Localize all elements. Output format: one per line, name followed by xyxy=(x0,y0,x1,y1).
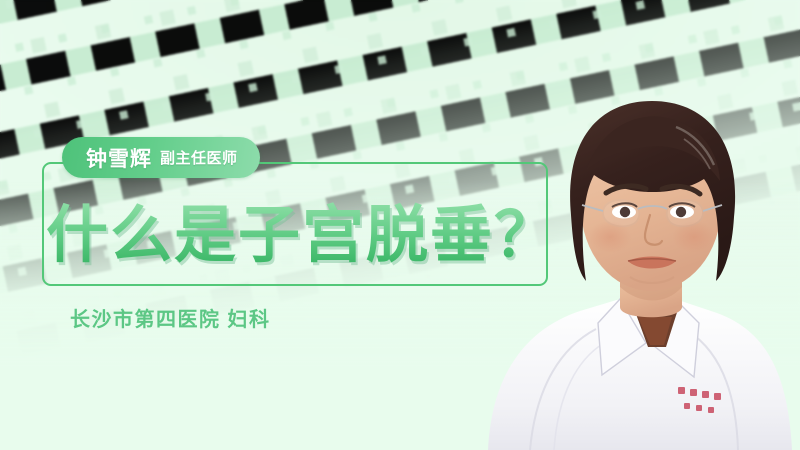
doctor-name-text: 钟雪辉 xyxy=(86,143,152,173)
headline-text: 什么是子宫脱垂？ xyxy=(46,184,558,274)
doctor-name-badge: 钟雪辉 副主任医师 xyxy=(62,137,260,178)
hospital-department-caption: 长沙市第四医院 妇科 xyxy=(70,303,271,332)
video-thumbnail-card: 钟雪辉 副主任医师 什么是子宫脱垂？ 长沙市第四医院 妇科 xyxy=(0,0,800,450)
headline: 什么是子宫脱垂？ xyxy=(46,186,546,272)
doctor-title-text: 副主任医师 xyxy=(160,147,238,168)
